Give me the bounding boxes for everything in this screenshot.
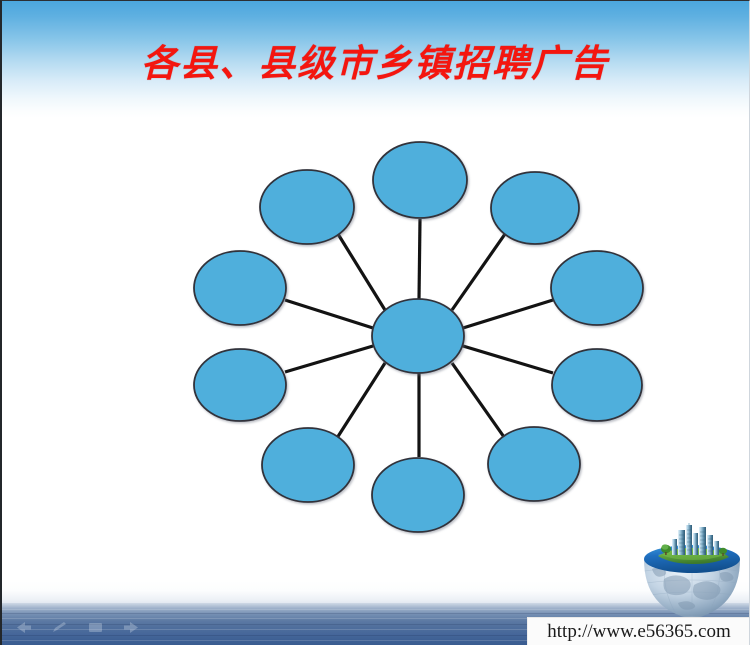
diagram-node[interactable] bbox=[194, 251, 286, 325]
diagram-node[interactable] bbox=[194, 349, 286, 421]
diagram-node[interactable] bbox=[260, 170, 354, 244]
slide-menu-icon[interactable] bbox=[86, 620, 105, 635]
globe-city-icon bbox=[638, 523, 746, 623]
watermark-url-text: http://www.e56365.com bbox=[547, 621, 730, 643]
connector-line bbox=[463, 346, 553, 373]
connector-line bbox=[338, 234, 385, 310]
pen-icon[interactable] bbox=[50, 620, 69, 635]
connector-line bbox=[463, 300, 553, 328]
next-arrow-icon[interactable] bbox=[122, 620, 141, 635]
connector-line bbox=[337, 363, 385, 438]
watermark-url-box: http://www.e56365.com bbox=[527, 617, 750, 645]
diagram-node[interactable] bbox=[491, 172, 579, 244]
connector-line bbox=[285, 300, 373, 328]
page-title-text: 各县、县级市乡镇招聘广告 bbox=[141, 40, 609, 88]
page-title: 各县、县级市乡镇招聘广告 bbox=[0, 40, 750, 88]
previous-arrow-icon[interactable] bbox=[14, 620, 33, 635]
connector-line bbox=[452, 234, 505, 310]
diagram-node[interactable] bbox=[551, 251, 643, 325]
diagram-node[interactable] bbox=[552, 349, 642, 421]
diagram-node[interactable] bbox=[373, 142, 467, 218]
diagram-node[interactable] bbox=[372, 458, 464, 532]
presentation-nav-controls[interactable] bbox=[14, 620, 141, 635]
connector-line bbox=[419, 219, 420, 300]
diagram-node[interactable] bbox=[262, 428, 354, 502]
diagram-node[interactable] bbox=[488, 427, 580, 501]
connector-line bbox=[452, 363, 504, 437]
diagram-center-node[interactable] bbox=[372, 299, 464, 373]
connector-line bbox=[285, 346, 373, 372]
presentation-slide: 各县、县级市乡镇招聘广告 bbox=[0, 0, 750, 645]
